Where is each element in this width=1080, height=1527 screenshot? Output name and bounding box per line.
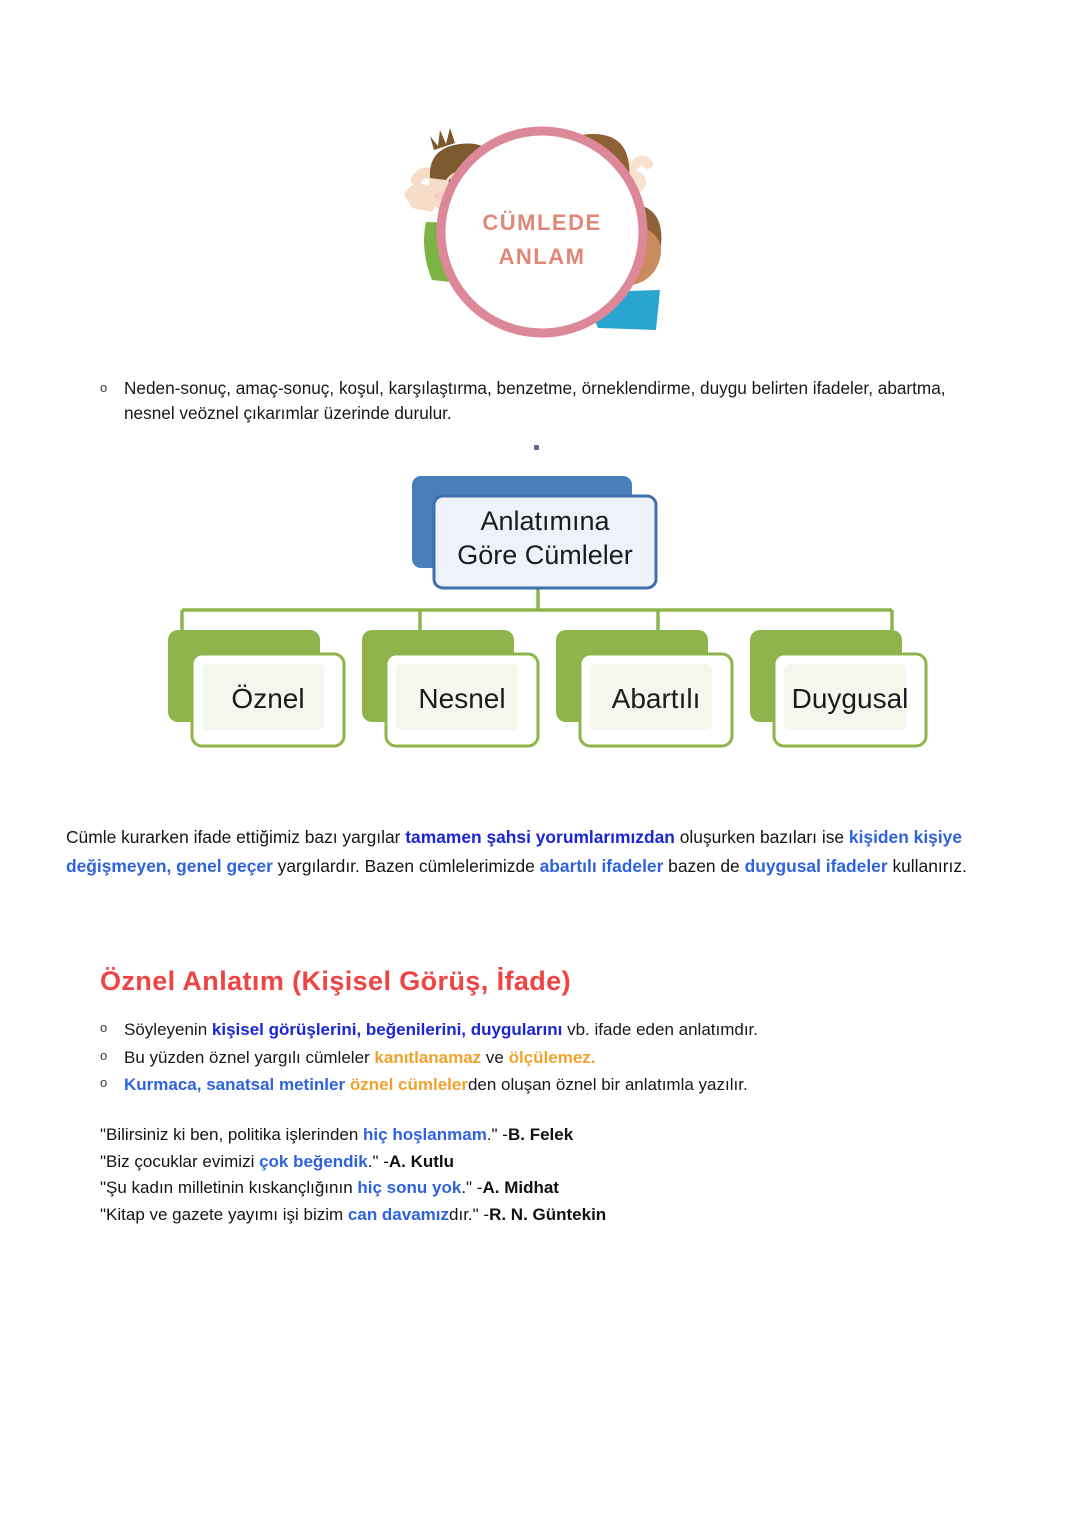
highlight-kanitlanamaz: kanıtlanamaz xyxy=(374,1048,481,1067)
child-node-abartili: Abartılı xyxy=(556,630,732,746)
highlight-kurmaca-sanatsal: Kurmaca, sanatsal metinler xyxy=(124,1075,345,1094)
text-segment: den oluşan öznel bir anlatımla yazılır. xyxy=(468,1075,748,1094)
quote-highlight: hiç hoşlanmam xyxy=(363,1125,487,1144)
quote-segment: "Biz çocuklar evimizi xyxy=(100,1152,259,1171)
highlight-oznel-cumleler: öznel cümleler xyxy=(350,1075,468,1094)
child-node-label: Nesnel xyxy=(418,683,505,714)
quote-item: "Biz çocuklar evimizi çok beğendik." -A.… xyxy=(100,1149,980,1176)
page-title: Öznel Anlatım (Kişisel Görüş, İfade) xyxy=(100,966,571,997)
bullet-marker: o xyxy=(100,376,124,401)
text-segment: Söyleyenin xyxy=(124,1020,212,1039)
list-item: o Bu yüzden öznel yargılı cümleler kanıt… xyxy=(100,1044,980,1072)
bullet-marker: o xyxy=(100,1044,124,1069)
intro-paragraph: Cümle kurarken ifade ettiğimiz bazı yarg… xyxy=(66,823,1018,879)
paragraph-segment: yargılardır. Bazen cümlelerimizde xyxy=(273,856,540,876)
bullet-content: Bu yüzden öznel yargılı cümleler kanıtla… xyxy=(124,1044,980,1072)
child-node-oznel: Öznel xyxy=(168,630,344,746)
bullet-content: Söyleyenin kişisel görüşlerini, beğenile… xyxy=(124,1016,980,1044)
text-segment: vb. ifade eden anlatımdır. xyxy=(562,1020,758,1039)
bullet-marker: o xyxy=(100,1016,124,1041)
quote-author: B. Felek xyxy=(508,1125,573,1144)
child-node-label: Öznel xyxy=(231,683,304,714)
child-node-nesnel: Nesnel xyxy=(362,630,538,746)
quote-segment: ." - xyxy=(487,1125,508,1144)
child-node-label: Duygusal xyxy=(792,683,909,714)
highlight-kisisel-gorusler: kişisel görüşlerini, beğenilerini, duygu… xyxy=(212,1020,562,1039)
root-node-label-line2: Göre Cümleler xyxy=(457,540,633,570)
bullet-marker: o xyxy=(100,1071,124,1096)
cumlede-anlam-illustration: CÜMLEDE ANLAM xyxy=(396,72,688,344)
quotation-list: "Bilirsiniz ki ben, politika işlerinden … xyxy=(100,1122,980,1228)
quote-author: A. Midhat xyxy=(482,1178,559,1197)
quote-segment: dır." - xyxy=(449,1205,489,1224)
quote-item: "Kitap ve gazete yayımı işi bizim can da… xyxy=(100,1202,980,1229)
highlight-sahsi-yorumlar: tamamen şahsi yorumlarımızdan xyxy=(405,827,675,847)
list-item: o Neden-sonuç, amaç-sonuç, koşul, karşıl… xyxy=(100,376,1000,426)
quote-author: A. Kutlu xyxy=(389,1152,454,1171)
highlight-olculemez: ölçülemez. xyxy=(509,1048,596,1067)
quote-highlight: çok beğendik xyxy=(259,1152,368,1171)
bullet-content: Kurmaca, sanatsal metinler öznel cümlele… xyxy=(124,1071,980,1099)
text-segment: ve xyxy=(481,1048,508,1067)
paragraph-segment: kullanırız. xyxy=(888,856,967,876)
quote-segment: "Bilirsiniz ki ben, politika işlerinden xyxy=(100,1125,363,1144)
paragraph-segment: bazen de xyxy=(663,856,744,876)
ring-caption-line2: ANLAM xyxy=(499,244,586,269)
intro-bullet-text: Neden-sonuç, amaç-sonuç, koşul, karşılaş… xyxy=(124,376,1000,426)
oznel-bullet-list: o Söyleyenin kişisel görüşlerini, beğeni… xyxy=(100,1016,980,1099)
quote-highlight: hiç sonu yok xyxy=(357,1178,461,1197)
highlight-duygusal-ifadeler: duygusal ifadeler xyxy=(745,856,888,876)
paragraph-segment: Cümle kurarken ifade ettiğimiz bazı yarg… xyxy=(66,827,405,847)
list-item: o Söyleyenin kişisel görüşlerini, beğeni… xyxy=(100,1016,980,1044)
child-node-duygusal: Duygusal xyxy=(750,630,926,746)
quote-segment: ." - xyxy=(368,1152,389,1171)
root-node-label-line1: Anlatımına xyxy=(480,506,610,536)
list-item: o Kurmaca, sanatsal metinler öznel cümle… xyxy=(100,1071,980,1099)
highlight-abartili-ifadeler: abartılı ifadeler xyxy=(540,856,664,876)
ink-dot-artifact xyxy=(534,445,539,450)
quote-author: R. N. Güntekin xyxy=(489,1205,606,1224)
ring-caption-line1: CÜMLEDE xyxy=(482,210,601,235)
paragraph-segment: oluşurken bazıları ise xyxy=(675,827,849,847)
quote-segment: "Kitap ve gazete yayımı işi bizim xyxy=(100,1205,348,1224)
text-segment: Bu yüzden öznel yargılı cümleler xyxy=(124,1048,374,1067)
quote-item: "Bilirsiniz ki ben, politika işlerinden … xyxy=(100,1122,980,1149)
intro-bullet-block: o Neden-sonuç, amaç-sonuç, koşul, karşıl… xyxy=(100,376,1000,426)
anlatimina-gore-cumleler-diagram: Anlatımına Göre Cümleler Öznel Nesnel Ab… xyxy=(150,468,940,758)
quote-highlight: can davamız xyxy=(348,1205,449,1224)
quote-item: "Şu kadın milletinin kıskançlığının hiç … xyxy=(100,1175,980,1202)
quote-segment: "Şu kadın milletinin kıskançlığının xyxy=(100,1178,357,1197)
child-node-label: Abartılı xyxy=(612,683,701,714)
quote-segment: ." - xyxy=(461,1178,482,1197)
